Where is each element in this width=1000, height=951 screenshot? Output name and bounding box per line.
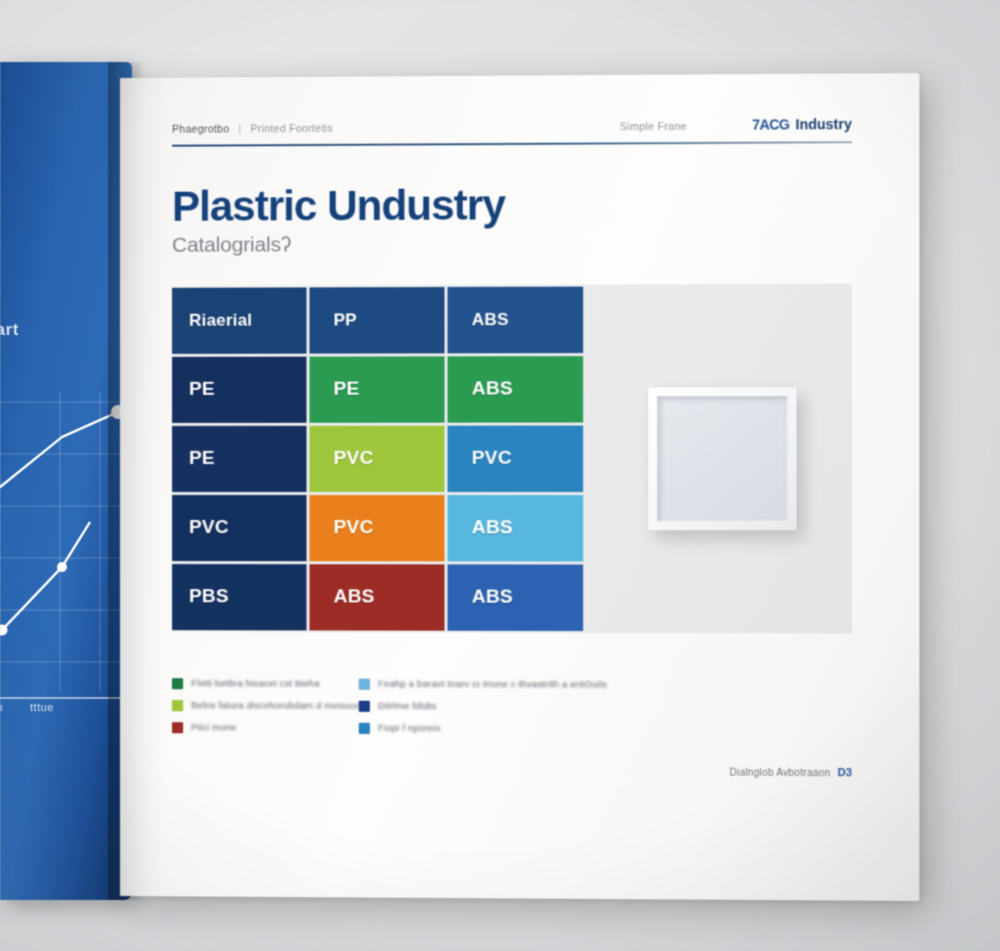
grid-cell: PVC <box>309 495 444 561</box>
legend-item: Belns fatura discvhorubdam d mvisoos <box>172 700 349 712</box>
legend-swatch-icon <box>172 700 183 711</box>
grid-cell: ABS <box>448 564 584 631</box>
grid-cell: ABS <box>448 287 584 354</box>
left-page-axis-label-end: tttue <box>30 702 54 714</box>
header-left-group: Phaegrotbo | Printed Foortetis <box>172 123 333 136</box>
product-image-area <box>593 286 852 632</box>
footer-text: Dialnglob Avbotraaon <box>729 768 830 780</box>
left-page-line-chart <box>0 392 132 722</box>
legend-label: Flxtti betbra hisacet cst bteha <box>191 678 320 689</box>
page-number: D3 <box>838 767 852 779</box>
product-frame <box>648 387 797 530</box>
header-label: Phaegrotbo <box>172 123 229 135</box>
legend-swatch-icon <box>172 722 183 733</box>
grid-cell: Riaerial <box>172 287 306 353</box>
legend-label: Belns fatura discvhorubdam d mvisoos <box>191 700 360 712</box>
header-separator: | <box>238 123 241 135</box>
left-page-chart-area: Chart - Iov <box>0 62 132 900</box>
header-divider <box>172 141 852 147</box>
brochure-photo: Chart - Iov <box>0 0 1000 951</box>
page-footer: Dialnglob Avbotraaon D3 <box>172 764 852 779</box>
legend-label: Fiopi f nporeis <box>378 723 440 734</box>
page-gutter-shadow <box>120 78 166 897</box>
legend-item: Piici mone <box>172 722 349 734</box>
legend-label: Dtirlme fdtdts <box>378 701 437 712</box>
legend-swatch-icon <box>359 723 370 734</box>
right-page: Phaegrotbo | Printed Foortetis Simple Fr… <box>120 73 919 901</box>
product-frame-inner <box>657 396 787 521</box>
brand-mark-icon: 7ACG <box>752 116 789 132</box>
grid-cell: PE <box>309 356 444 422</box>
left-page-axis-label-start: - Ioven <box>0 702 3 714</box>
brand-logo: 7ACG Industry <box>752 116 852 133</box>
legend-column-left: Flxtti betbra hisacet cst btehaBelns fat… <box>172 678 349 734</box>
legend-item: Fiopi f nporeis <box>359 723 656 735</box>
grid-cell: PVC <box>309 426 444 492</box>
material-grid: RiaerialPPABSPEPEABSPEPVCPVCPVCPVCABSPBS… <box>172 287 583 631</box>
header-right-group: Simple Frane 7ACG Industry <box>620 116 852 133</box>
grid-cell: ABS <box>309 564 444 630</box>
legend: Flxtti betbra hisacet cst btehaBelns fat… <box>172 678 656 735</box>
left-page-chart-title: Chart <box>0 320 19 340</box>
grid-cell: PE <box>172 357 306 423</box>
legend-column-right: Feahp a baravt tnarv io trione c thvastr… <box>359 679 656 735</box>
legend-item: Feahp a baravt tnarv io trione c thvastr… <box>359 679 656 691</box>
grid-cell: ABS <box>448 356 584 423</box>
grid-cell: PVC <box>448 426 584 492</box>
grid-cell: PVC <box>172 495 306 561</box>
legend-swatch-icon <box>172 678 183 689</box>
grid-cell: PP <box>309 287 444 354</box>
legend-swatch-icon <box>359 679 370 690</box>
page-header: Phaegrotbo | Printed Foortetis Simple Fr… <box>172 116 852 136</box>
grid-cell: ABS <box>448 495 584 561</box>
header-center-label: Simple Frane <box>620 121 687 133</box>
page-subtitle: Catalogrialsʔ <box>172 232 505 257</box>
legend-label: Piici mone <box>191 722 236 733</box>
left-page: Chart - Iov <box>0 62 132 900</box>
title-block: Plastric Undustry Catalogrialsʔ <box>172 184 505 257</box>
page-title: Plastric Undustry <box>172 184 505 228</box>
grid-cell: PE <box>172 426 306 492</box>
legend-item: Dtirlme fdtdts <box>359 701 656 713</box>
header-sublabel: Printed Foortetis <box>250 123 333 135</box>
grid-cell: PBS <box>172 564 306 630</box>
brand-name: Industry <box>795 116 851 132</box>
legend-label: Feahp a baravt tnarv io trione c thvastr… <box>378 679 607 691</box>
legend-item: Flxtti betbra hisacet cst bteha <box>172 678 349 690</box>
